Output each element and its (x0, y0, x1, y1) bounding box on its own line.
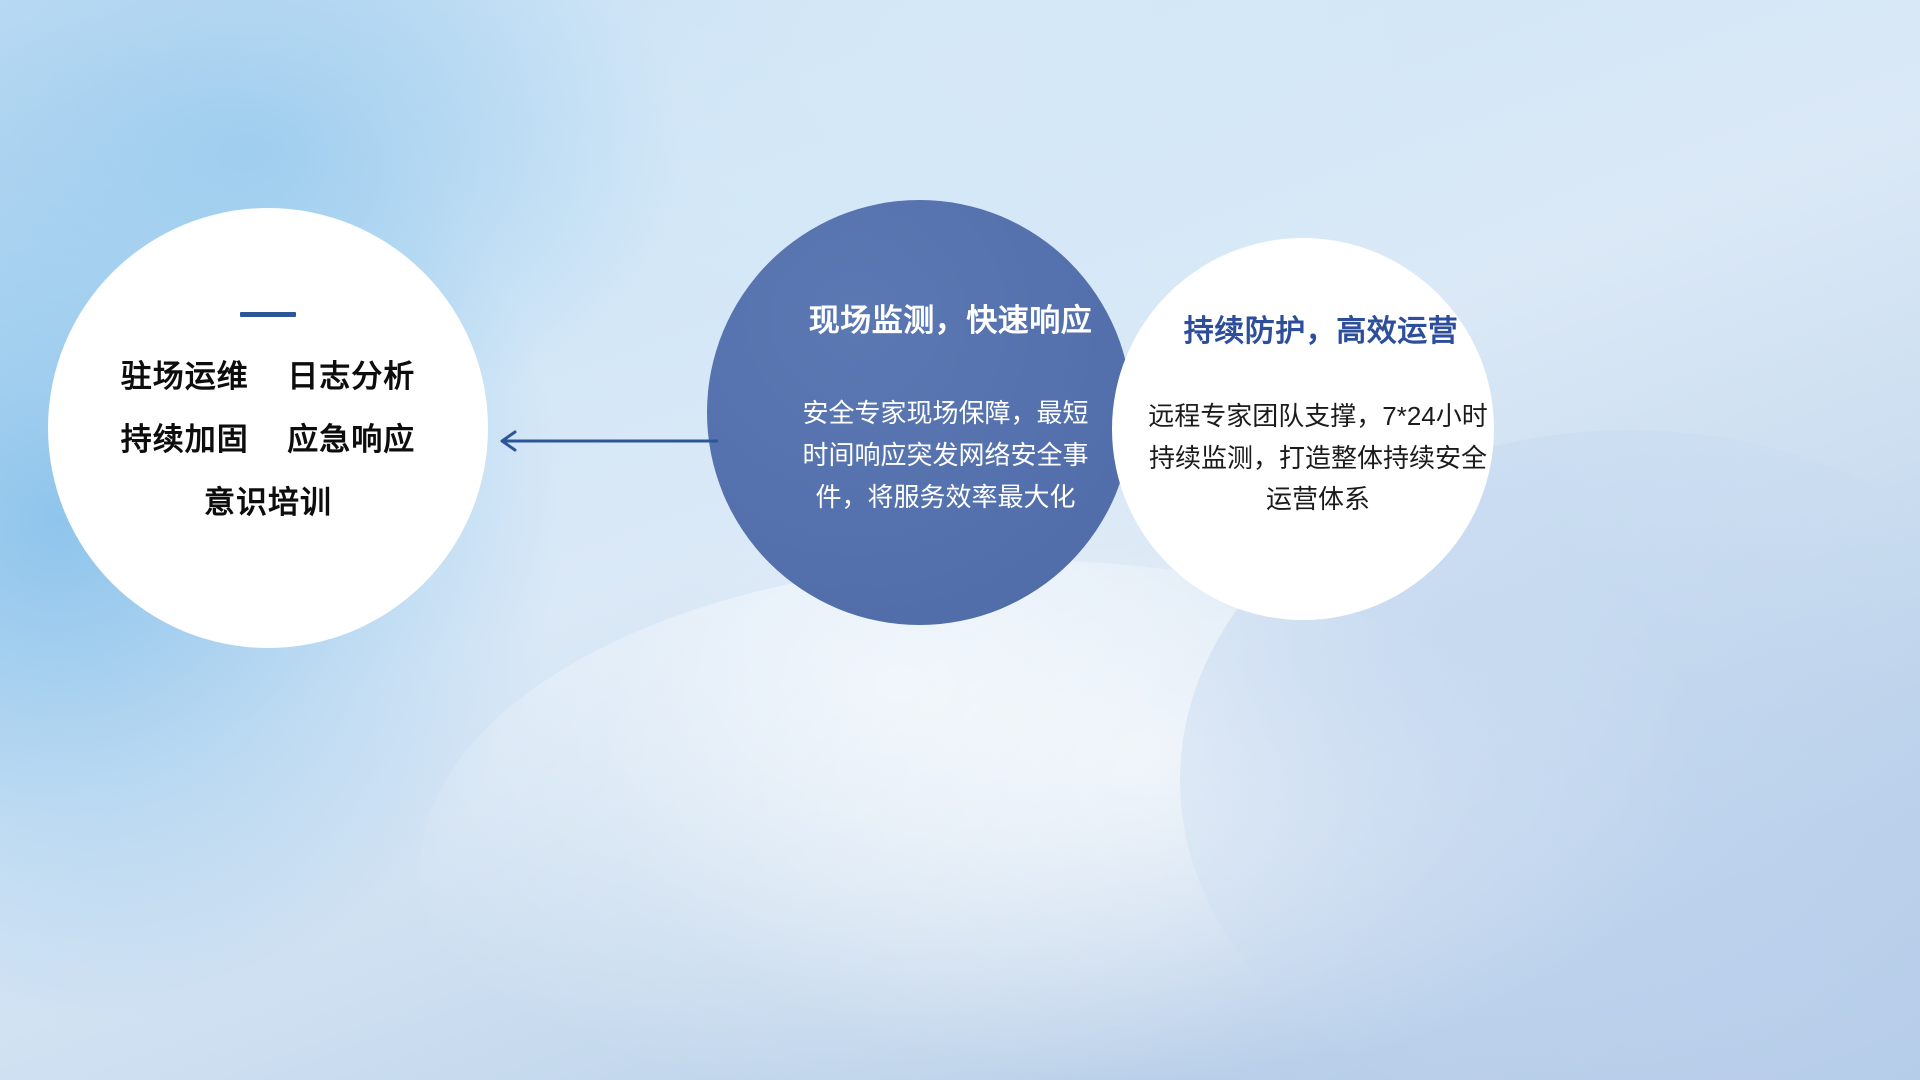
middle-card-title: 现场监测，快速响应 (809, 295, 1093, 340)
left-keywords-circle[interactable]: 驻场运维 日志分析 持续加固 应急响应 意识培训 (48, 208, 488, 648)
middle-card-body: 安全专家现场保障，最短时间响应突发网络安全事件，将服务效率最大化 (801, 392, 1091, 518)
divider-dash (240, 312, 296, 317)
right-card-body: 远程专家团队支撑，7*24小时持续监测，打造整体持续安全运营体系 (1142, 396, 1494, 521)
right-card-title: 持续防护，高效运营 (1184, 306, 1459, 350)
left-keyword-line: 驻场运维 日志分析 (121, 361, 415, 392)
left-keyword-line: 意识培训 (204, 487, 332, 518)
background-swoosh-bottom-center (420, 560, 1620, 1080)
right-operations-circle[interactable]: 持续防护，高效运营 远程专家团队支撑，7*24小时持续监测，打造整体持续安全运营… (1112, 238, 1494, 620)
slide-canvas: 驻场运维 日志分析 持续加固 应急响应 意识培训 现场监测，快速响应 安全专家现… (0, 0, 1920, 1080)
arrow-left-icon (490, 424, 720, 458)
left-keyword-line: 持续加固 应急响应 (121, 424, 415, 455)
middle-onsite-circle[interactable]: 现场监测，快速响应 安全专家现场保障，最短时间响应突发网络安全事件，将服务效率最… (707, 200, 1132, 625)
